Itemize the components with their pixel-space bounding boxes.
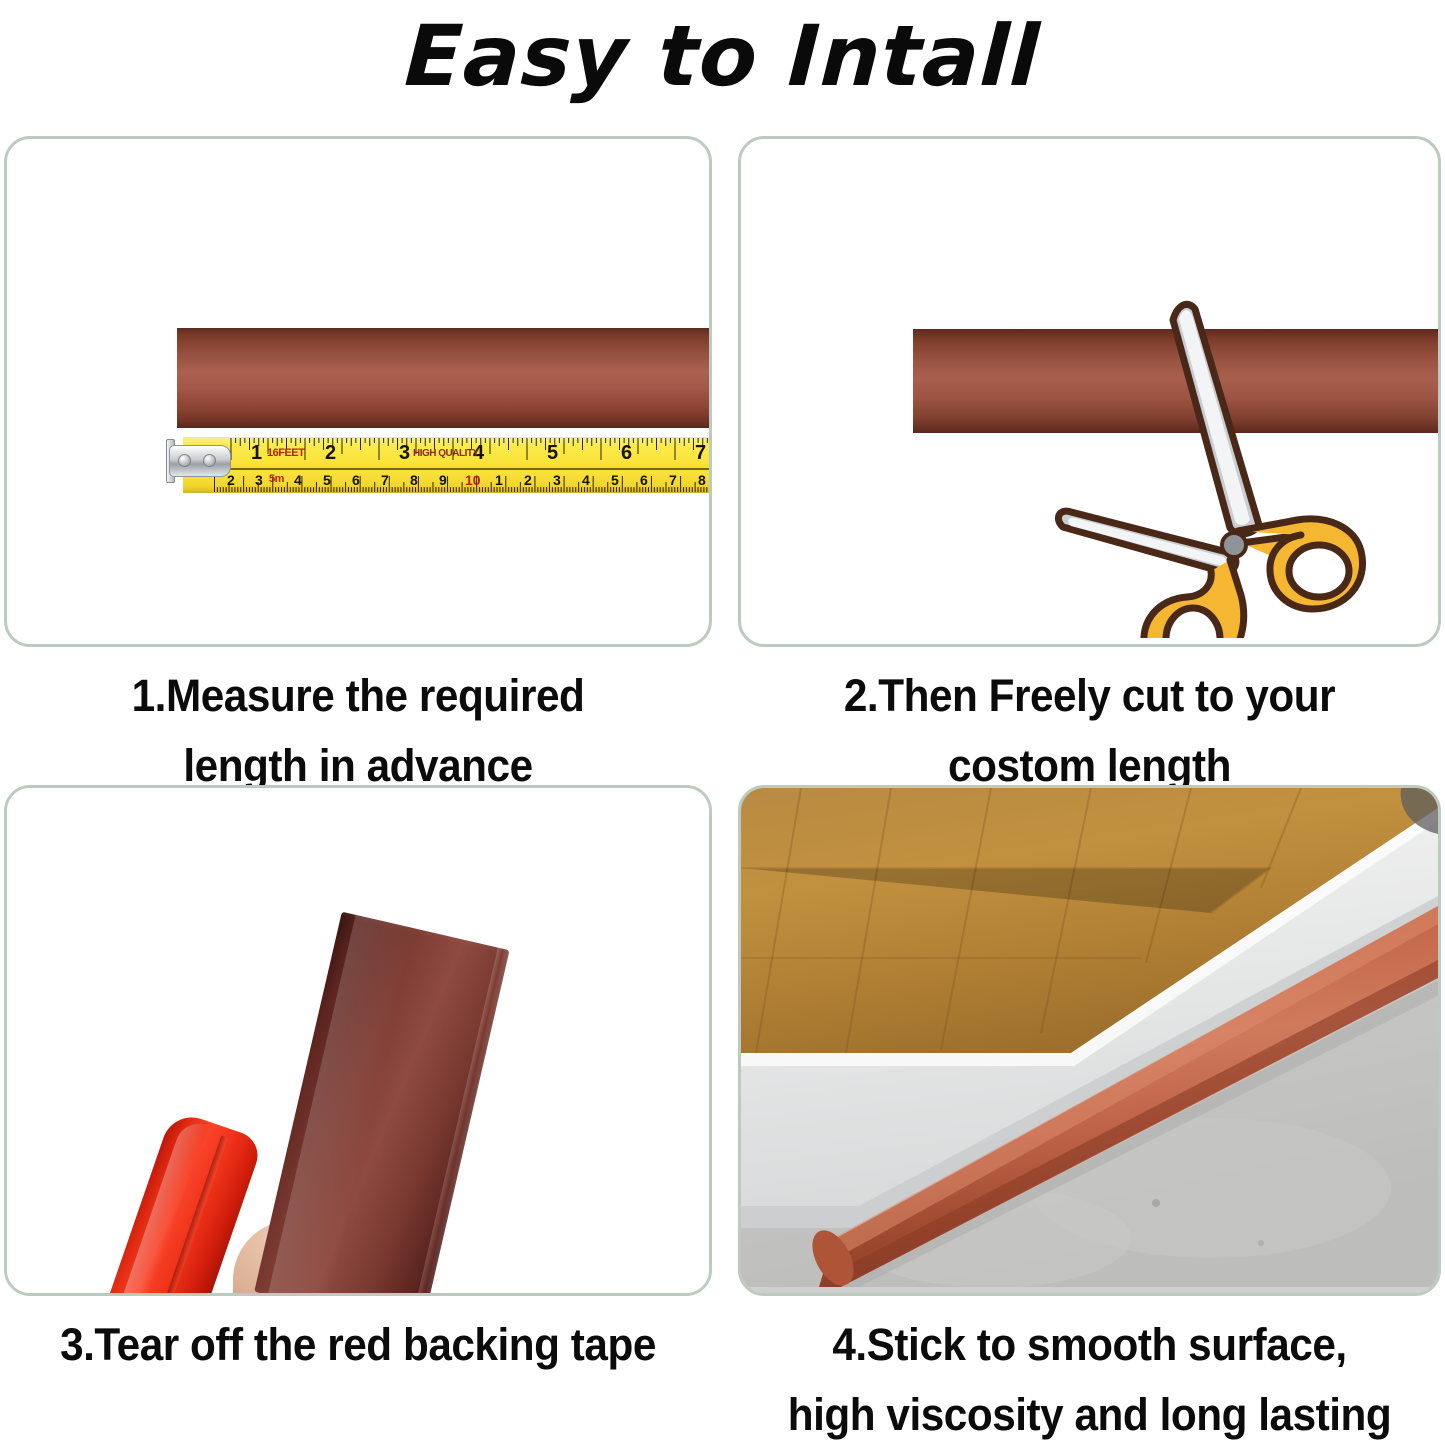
tape-cm-label: 7 (669, 473, 677, 487)
step-card-2: 2.Then Freely cut to your costom length (738, 136, 1441, 801)
step-4-caption-line-1: 4.Stick to smooth surface, (759, 1310, 1420, 1380)
tape-metric-label: 5m (269, 474, 284, 485)
tape-cm-label: 3 (553, 473, 561, 487)
tape-cm-label: 4 (582, 473, 590, 487)
tape-cm-label: 7 (381, 473, 389, 487)
installed-trim-photo-graphic (741, 788, 1438, 1287)
tape-brand-label: 16FEET (267, 448, 304, 459)
tape-cm-label: 5 (611, 473, 619, 487)
installed-trim-scene (741, 788, 1438, 1293)
trim-strip-graphic (254, 912, 509, 1296)
tape-cm-label: 8 (410, 473, 418, 487)
tape-cm-label: 5 (323, 473, 331, 487)
tape-cm-label: 8 (698, 473, 706, 487)
tape-inch-label: 2 (325, 443, 336, 463)
tape-cm-label: 6 (640, 473, 648, 487)
steps-grid: 1 2 3 4 5 6 7 16FEET HIGH QUALITY 2 3 5m… (0, 136, 1445, 1431)
tape-quality-label: HIGH QUALITY (413, 449, 479, 459)
tape-inch-label: 7 (695, 443, 706, 463)
step-1-caption-line-1: 1.Measure the required (25, 661, 691, 731)
tape-inch-label: 3 (399, 443, 410, 463)
tape-cm-label: 6 (352, 473, 360, 487)
step-3-caption-line-1: 3.Tear off the red backing tape (25, 1310, 691, 1380)
tape-cm-label-highlight: 10 (465, 473, 481, 487)
tape-inch-label: 6 (621, 443, 632, 463)
tape-hook-icon (165, 443, 231, 477)
step-2-caption-line-1: 2.Then Freely cut to your (759, 661, 1420, 731)
step-card-4: 4.Stick to smooth surface, high viscosit… (738, 785, 1441, 1450)
step-3-caption: 3.Tear off the red backing tape (25, 1310, 691, 1380)
step-3-illustration (4, 785, 712, 1296)
step-card-3: 3.Tear off the red backing tape (4, 785, 712, 1380)
tape-inch-label: 5 (547, 443, 558, 463)
tape-cm-label: 9 (439, 473, 447, 487)
step-card-1: 1 2 3 4 5 6 7 16FEET HIGH QUALITY 2 3 5m… (4, 136, 712, 801)
tape-cm-label: 2 (227, 473, 235, 487)
tape-cm-label: 2 (524, 473, 532, 487)
page-title: Easy to Intall (0, 4, 1445, 108)
step-1-illustration: 1 2 3 4 5 6 7 16FEET HIGH QUALITY 2 3 5m… (4, 136, 712, 647)
tape-cm-label: 3 (255, 473, 263, 487)
tape-inch-label: 1 (251, 443, 262, 463)
tape-cm-label: 4 (294, 473, 302, 487)
tape-cm-label: 1 (495, 473, 503, 487)
step-2-illustration (738, 136, 1441, 647)
step-4-caption: 4.Stick to smooth surface, high viscosit… (759, 1310, 1420, 1450)
step-2-caption: 2.Then Freely cut to your costom length (759, 661, 1420, 801)
step-1-caption: 1.Measure the required length in advance (25, 661, 691, 801)
step-4-caption-line-2: high viscosity and long lasting (759, 1380, 1420, 1450)
trim-strip-graphic (177, 328, 712, 428)
scissors-icon (741, 139, 1438, 638)
tape-measure-graphic: 1 2 3 4 5 6 7 16FEET HIGH QUALITY 2 3 5m… (165, 437, 712, 493)
peel-scene (7, 788, 709, 1293)
step-4-photo (738, 785, 1441, 1296)
